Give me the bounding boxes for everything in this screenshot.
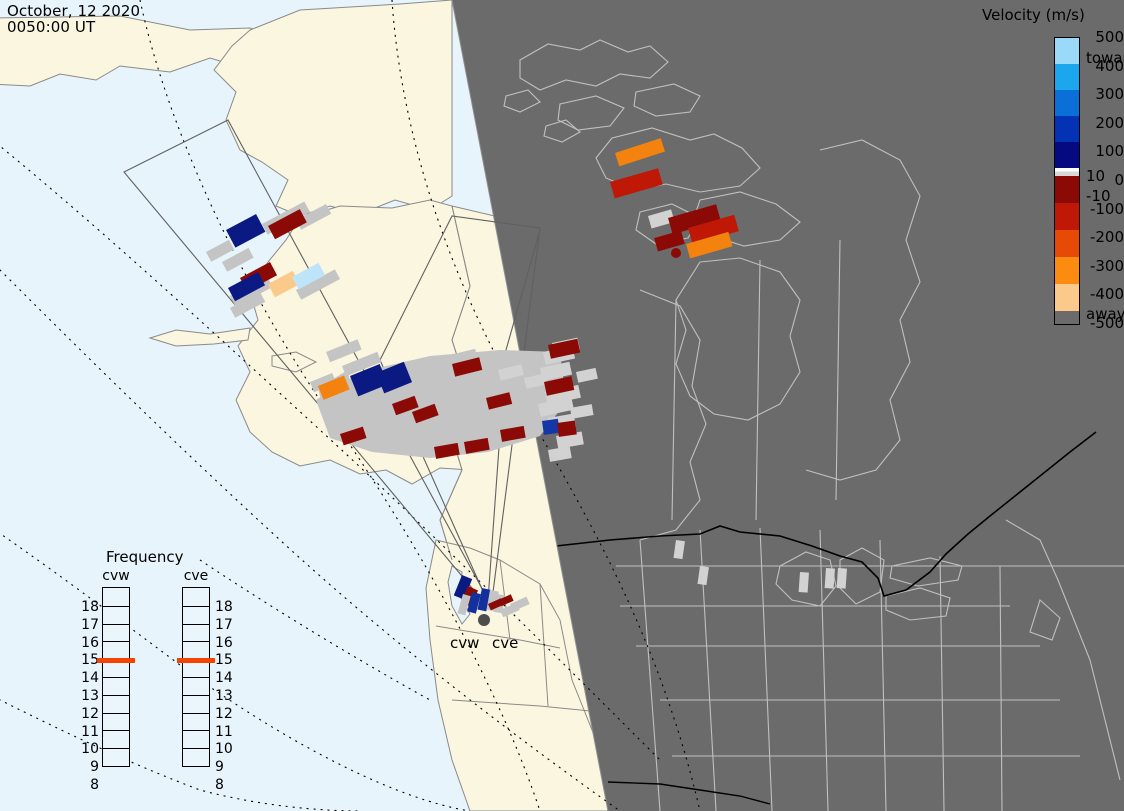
colorbar-title: Velocity (m/s) <box>982 6 1085 24</box>
colorbar-away-label: away <box>1086 305 1124 323</box>
timestamp-title: October, 12 2020 0050:00 UT <box>7 3 140 35</box>
colorbar-tick--400: -400 <box>1052 285 1124 303</box>
colorbar-tick-100: 100 <box>1052 142 1124 160</box>
frequency-tick-12: 12 <box>81 706 99 722</box>
frequency-tick-18: 18 <box>215 599 233 615</box>
frequency-gauge-cvw-label: cvw <box>85 568 147 584</box>
frequency-tick-15: 15 <box>215 652 233 668</box>
radar-map-screenshot: October, 12 2020 0050:00 UT cvw cve Velo… <box>0 0 1124 811</box>
frequency-gauge-cve-scale <box>182 587 210 767</box>
frequency-tick-16: 16 <box>215 635 233 651</box>
frequency-tick-8: 8 <box>215 777 233 793</box>
title-time: 0050:00 UT <box>7 18 95 36</box>
colorbar-tick-500: 500 <box>1052 28 1124 46</box>
frequency-marker-cve <box>177 658 215 663</box>
frequency-gauge-divider <box>103 624 129 625</box>
frequency-gauge-cve: cve 18171615141312111098 <box>165 568 227 786</box>
frequency-tick-10: 10 <box>81 741 99 757</box>
colorbar-plus-threshold: 10 <box>1086 167 1105 185</box>
frequency-tick-14: 14 <box>81 670 99 686</box>
colorbar-toward-label: toward <box>1086 49 1124 67</box>
site-label-cvw: cvw <box>450 634 479 652</box>
site-label-cve: cve <box>492 634 518 652</box>
frequency-tick-17: 17 <box>81 617 99 633</box>
colorbar-tick--200: -200 <box>1052 228 1124 246</box>
frequency-tick-8: 8 <box>81 777 99 793</box>
frequency-tick-13: 13 <box>215 688 233 704</box>
frequency-gauge-divider <box>183 695 209 696</box>
frequency-gauge-cvw: cvw 18171615141312111098 <box>85 568 147 786</box>
colorbar-tick-300: 300 <box>1052 85 1124 103</box>
frequency-tick-14: 14 <box>215 670 233 686</box>
frequency-tick-16: 16 <box>81 635 99 651</box>
frequency-tick-10: 10 <box>215 741 233 757</box>
frequency-gauge-divider <box>183 677 209 678</box>
frequency-tick-13: 13 <box>81 688 99 704</box>
colorbar-tick--300: -300 <box>1052 257 1124 275</box>
frequency-tick-18: 18 <box>81 599 99 615</box>
frequency-gauge-divider <box>103 748 129 749</box>
frequency-gauge-divider <box>103 677 129 678</box>
frequency-gauge-divider <box>103 695 129 696</box>
colorbar-minus-threshold: -10 <box>1086 187 1111 205</box>
frequency-gauge-divider <box>103 641 129 642</box>
frequency-legend-title: Frequency <box>106 548 184 566</box>
frequency-gauge-cve-label: cve <box>165 568 227 584</box>
frequency-tick-11: 11 <box>215 724 233 740</box>
colorbar-tick-200: 200 <box>1052 114 1124 132</box>
frequency-gauge-divider <box>183 748 209 749</box>
frequency-legend: Frequency cvw 18171615141312111098 cve 1… <box>85 548 245 788</box>
velocity-colorbar: Velocity (m/s) 5004003002001000-100-200-… <box>972 4 1124 334</box>
radar-site-dot <box>478 614 490 626</box>
frequency-gauge-divider <box>103 730 129 731</box>
frequency-gauge-cvw-scale <box>102 587 130 767</box>
frequency-gauge-divider <box>183 624 209 625</box>
frequency-tick-17: 17 <box>215 617 233 633</box>
frequency-gauge-divider <box>183 606 209 607</box>
frequency-tick-11: 11 <box>81 724 99 740</box>
frequency-tick-9: 9 <box>215 759 233 775</box>
frequency-gauge-divider <box>183 730 209 731</box>
frequency-gauge-divider <box>183 641 209 642</box>
frequency-marker-cvw <box>97 658 135 663</box>
frequency-tick-9: 9 <box>81 759 99 775</box>
frequency-gauge-divider <box>103 606 129 607</box>
frequency-gauge-divider <box>183 713 209 714</box>
frequency-tick-12: 12 <box>215 706 233 722</box>
frequency-gauge-divider <box>103 713 129 714</box>
